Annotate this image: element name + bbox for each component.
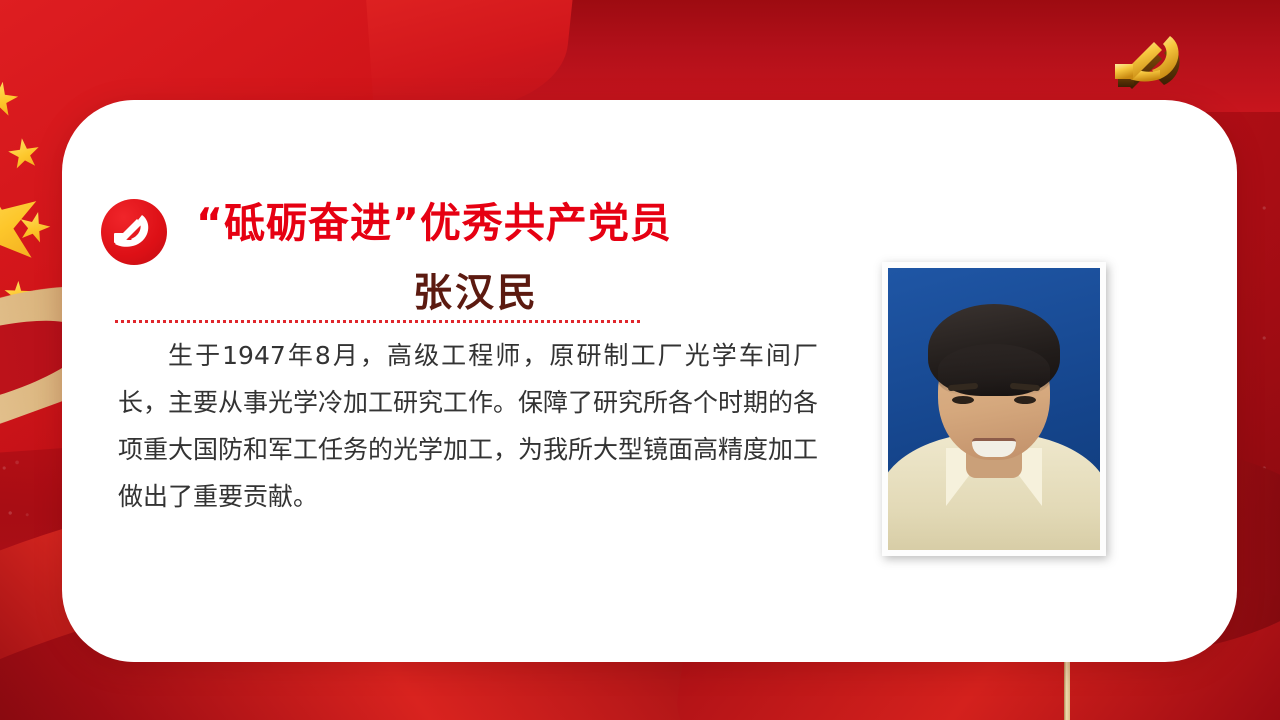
portrait-eye-left [952,396,974,404]
portrait-mouth [972,438,1016,457]
portrait-hair [928,304,1060,396]
slide-root: “砥砺奋进”优秀共产党员 张汉民 生于1947年8月，高级工程师，原研制工厂光学… [0,0,1280,720]
flag-star-small-1 [0,79,21,120]
page-title: “砥砺奋进”优秀共产党员 [196,202,756,245]
hammer-sickle-badge-icon [101,199,167,265]
portrait-photo-frame [882,262,1106,556]
biography-text: 生于1947年8月，高级工程师，原研制工厂光学车间厂长，主要从事光学冷加工研究工… [118,332,818,520]
flag-star-small-2 [6,136,42,172]
portrait-eye-right [1014,396,1036,404]
person-name: 张汉民 [196,262,756,318]
portrait-photo [888,268,1100,550]
hammer-sickle-gold-icon [1108,22,1200,108]
dotted-divider [115,320,641,323]
